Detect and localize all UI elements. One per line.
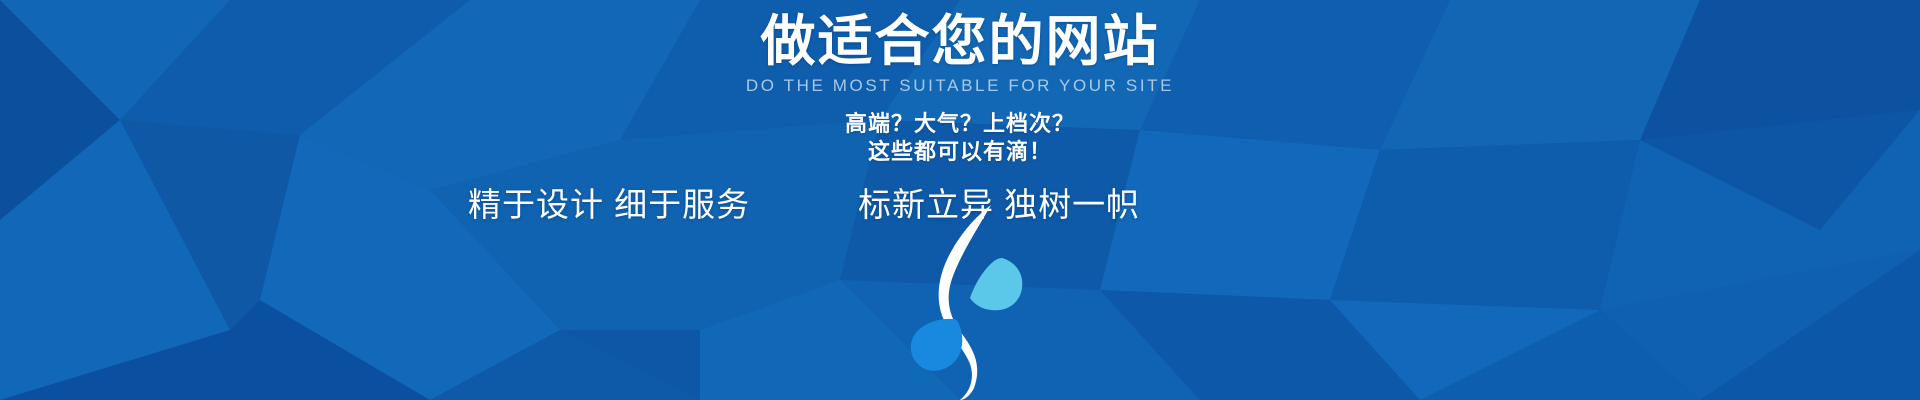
slogan-left: 精于设计 细于服务 <box>468 182 750 228</box>
page-title: 做适合您的网站 <box>0 12 1920 71</box>
promo-banner: 做适合您的网站 DO THE MOST SUITABLE FOR YOUR SI… <box>0 0 1920 400</box>
subtitle-english: DO THE MOST SUITABLE FOR YOUR SITE <box>0 76 1920 96</box>
logo-leaf-blue <box>911 319 962 371</box>
tagline-question-line-2: 这些都可以有滴！ <box>0 134 1920 166</box>
logo-leaf-cyan <box>970 258 1022 310</box>
banner-content: 做适合您的网站 DO THE MOST SUITABLE FOR YOUR SI… <box>0 0 1920 400</box>
leaf-sprout-logo <box>890 200 1040 400</box>
